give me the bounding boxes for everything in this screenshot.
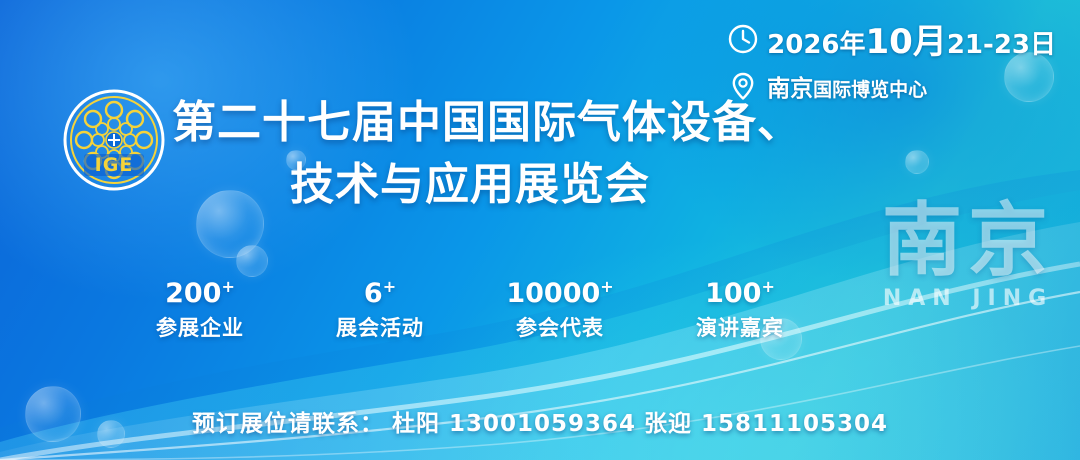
stat-item: 100+ 演讲嘉宾 <box>660 272 820 342</box>
event-title: 第二十七届中国国际气体设备、 技术与应用展览会 <box>172 92 892 216</box>
contact-person-1: 杜阳 13001059364 <box>392 411 636 437</box>
stat-number-sup: + <box>761 277 774 296</box>
stat-number: 200+ <box>120 272 280 309</box>
stat-item: 6+ 展会活动 <box>300 272 460 342</box>
stat-number-sup: + <box>600 277 613 296</box>
stat-number: 10000+ <box>480 272 640 309</box>
stat-number-sup: + <box>383 277 396 296</box>
event-banner: IGE 2026年10月21-23日 南京国际博览中心 第二十七届中国国际气体设… <box>0 0 1080 460</box>
contact-line: 预订展位请联系：杜阳 13001059364张迎 15811105304 <box>0 404 1080 438</box>
stat-label: 参展企业 <box>120 312 280 342</box>
event-date: 2026年10月21-23日 <box>767 14 1056 63</box>
event-date-month: 10月 <box>866 22 947 62</box>
event-date-row: 2026年10月21-23日 <box>728 14 1056 63</box>
logo-text: IGE <box>95 154 134 176</box>
stat-number-value: 100 <box>705 278 761 309</box>
stat-label: 展会活动 <box>300 312 460 342</box>
event-date-days: 21-23日 <box>947 30 1056 60</box>
stat-number-value: 200 <box>165 278 221 309</box>
stat-number-value: 10000 <box>506 278 600 309</box>
ige-logo: IGE <box>62 88 166 192</box>
event-title-line1: 第二十七届中国国际气体设备、 <box>172 97 802 148</box>
bubble-decoration <box>905 150 929 174</box>
stat-number: 6+ <box>300 272 460 309</box>
stat-number: 100+ <box>660 272 820 309</box>
stat-item: 10000+ 参会代表 <box>480 272 640 342</box>
stat-item: 200+ 参展企业 <box>120 272 280 342</box>
stat-label: 参会代表 <box>480 312 640 342</box>
stat-label: 演讲嘉宾 <box>660 312 820 342</box>
event-title-line2: 技术与应用展览会 <box>172 154 892 216</box>
stat-number-sup: + <box>221 277 234 296</box>
stats-row: 200+ 参展企业 6+ 展会活动 10000+ 参会代表 100+ 演讲嘉宾 <box>120 272 820 342</box>
contact-person-2: 张迎 15811105304 <box>644 411 888 437</box>
contact-prefix: 预订展位请联系： <box>192 411 384 437</box>
clock-icon <box>728 24 758 54</box>
event-date-year: 2026年 <box>767 30 865 60</box>
stat-number-value: 6 <box>364 278 383 309</box>
